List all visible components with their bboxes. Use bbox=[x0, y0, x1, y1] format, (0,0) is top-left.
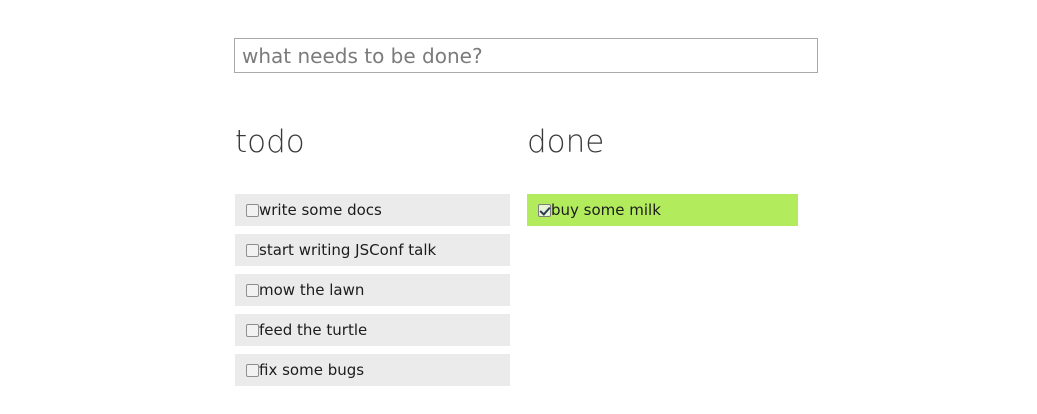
todo-checkbox[interactable] bbox=[246, 324, 259, 337]
todo-checkbox[interactable] bbox=[246, 204, 259, 217]
new-todo-input[interactable] bbox=[234, 38, 818, 73]
todo-checkbox[interactable] bbox=[246, 244, 259, 257]
done-checkbox[interactable] bbox=[538, 204, 551, 217]
todo-checkbox[interactable] bbox=[246, 284, 259, 297]
list-item[interactable]: mow the lawn bbox=[235, 274, 510, 306]
todo-column-title: todo bbox=[235, 124, 510, 160]
list-item[interactable]: start writing JSConf talk bbox=[235, 234, 510, 266]
todo-checkbox[interactable] bbox=[246, 364, 259, 377]
list-item-label: write some docs bbox=[259, 202, 382, 218]
list-item-label: mow the lawn bbox=[259, 282, 364, 298]
list-item-label: fix some bugs bbox=[259, 362, 364, 378]
done-column: done buy some milk bbox=[527, 124, 798, 160]
list-item[interactable]: buy some milk bbox=[527, 194, 798, 226]
list-item-label: feed the turtle bbox=[259, 322, 367, 338]
list-item[interactable]: fix some bugs bbox=[235, 354, 510, 386]
todo-column: todo write some docs start writing JSCon… bbox=[235, 124, 510, 160]
todo-list: write some docs start writing JSConf tal… bbox=[235, 194, 510, 394]
list-item-label: start writing JSConf talk bbox=[259, 242, 436, 258]
list-item-label: buy some milk bbox=[551, 202, 661, 218]
todo-app: todo write some docs start writing JSCon… bbox=[0, 0, 1037, 414]
done-list: buy some milk bbox=[527, 194, 798, 234]
list-item[interactable]: write some docs bbox=[235, 194, 510, 226]
done-column-title: done bbox=[527, 124, 798, 160]
list-item[interactable]: feed the turtle bbox=[235, 314, 510, 346]
